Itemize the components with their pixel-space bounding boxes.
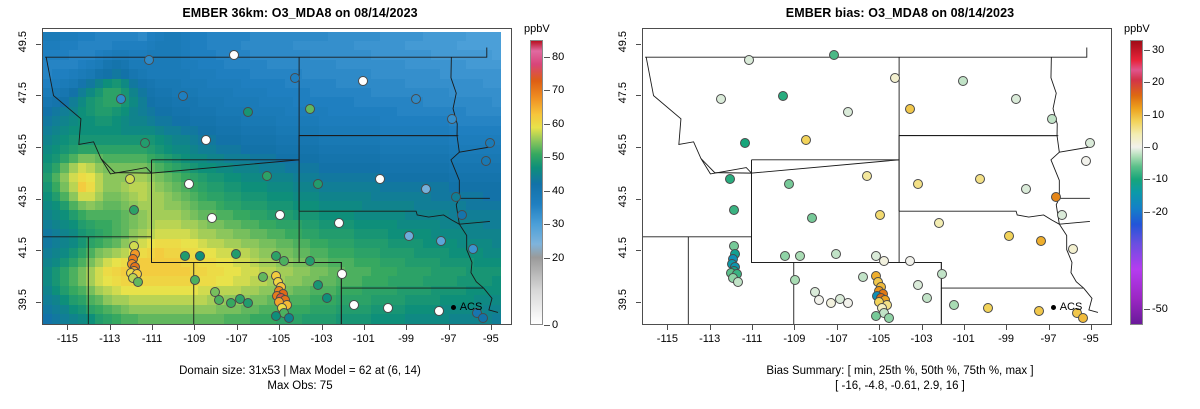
station-marker bbox=[1047, 114, 1057, 124]
y-tick-label: 43.5 bbox=[17, 186, 29, 208]
x-tick bbox=[491, 325, 492, 330]
station-marker bbox=[229, 50, 239, 60]
caption-bias-header: Bias Summary: [ min, 25th %, 50th %, 75t… bbox=[600, 365, 1200, 377]
y-tick bbox=[636, 147, 641, 148]
station-marker bbox=[829, 50, 839, 60]
colorbar-tick bbox=[1144, 309, 1150, 310]
y-tick bbox=[36, 95, 41, 96]
x-tick-label: -111 bbox=[142, 333, 162, 345]
colorbar-tick-label: 70 bbox=[552, 84, 564, 96]
y-tick bbox=[636, 95, 641, 96]
station-marker bbox=[1068, 244, 1078, 254]
y-tick-label: 41.5 bbox=[17, 237, 29, 259]
y-tick-label: 47.5 bbox=[17, 82, 29, 104]
station-marker bbox=[383, 303, 393, 313]
station-marker bbox=[140, 138, 150, 148]
x-tick-label: -95 bbox=[1083, 333, 1099, 345]
figure-root: EMBER 36km: O3_MDA8 on 08/14/2023 ACS -1… bbox=[0, 0, 1200, 409]
x-tick-label: -105 bbox=[868, 333, 890, 345]
colorbar-tick bbox=[1144, 212, 1150, 213]
station-marker bbox=[337, 269, 347, 279]
station-marker bbox=[843, 107, 853, 117]
station-marker bbox=[790, 275, 800, 285]
colorbar-gradient-right bbox=[1130, 40, 1143, 325]
colorbar-tick bbox=[544, 57, 550, 58]
x-tick-label: -115 bbox=[657, 333, 678, 345]
y-tick-label: 43.5 bbox=[617, 186, 629, 208]
y-tick-label: 49.5 bbox=[617, 31, 629, 53]
caption-domain-size: Domain size: 31x53 | Max Model = 62 at (… bbox=[0, 365, 600, 377]
colorbar-tick-label: 10 bbox=[1152, 109, 1164, 121]
station-marker bbox=[807, 213, 817, 223]
colorbar-tick bbox=[544, 258, 550, 259]
station-marker bbox=[1085, 138, 1095, 148]
station-marker bbox=[1081, 156, 1091, 166]
station-marker bbox=[375, 174, 385, 184]
colorbar-tick bbox=[544, 224, 550, 225]
x-tick-label: -115 bbox=[57, 333, 78, 345]
station-marker bbox=[434, 306, 444, 316]
y-tick-label: 41.5 bbox=[617, 237, 629, 259]
station-marker bbox=[144, 55, 154, 65]
x-tick-label: -101 bbox=[353, 333, 375, 345]
x-tick-label: -95 bbox=[483, 333, 499, 345]
station-marker bbox=[485, 138, 495, 148]
colorbar-tick bbox=[544, 157, 550, 158]
x-tick bbox=[279, 325, 280, 330]
station-marker bbox=[305, 104, 315, 114]
page-title-right: EMBER bias: O3_MDA8 on 08/14/2023 bbox=[600, 6, 1200, 20]
x-tick-label: -109 bbox=[183, 333, 205, 345]
x-tick-label: -101 bbox=[953, 333, 975, 345]
station-marker bbox=[1004, 231, 1014, 241]
y-tick-label: 45.5 bbox=[17, 134, 29, 156]
station-marker bbox=[1034, 306, 1044, 316]
colorbar-tick bbox=[544, 124, 550, 125]
x-tick bbox=[1006, 325, 1007, 330]
station-marker bbox=[831, 249, 841, 259]
x-tick bbox=[667, 325, 668, 330]
colorbar-gradient-left bbox=[530, 40, 543, 325]
colorbar-tick-label: 20 bbox=[1152, 76, 1164, 88]
x-tick bbox=[837, 325, 838, 330]
colorbar-tick bbox=[1144, 50, 1150, 51]
y-tick-label: 45.5 bbox=[617, 134, 629, 156]
station-marker bbox=[207, 213, 217, 223]
y-tick-label: 39.5 bbox=[617, 289, 629, 311]
colorbar-tick-label: -20 bbox=[1152, 206, 1168, 218]
colorbar-tick bbox=[544, 191, 550, 192]
station-marker bbox=[1011, 94, 1021, 104]
y-tick bbox=[36, 199, 41, 200]
colorbar-tick bbox=[1144, 179, 1150, 180]
station-marker bbox=[744, 55, 754, 65]
station-marker bbox=[884, 313, 894, 323]
x-tick-label: -109 bbox=[783, 333, 805, 345]
station-marker bbox=[795, 251, 805, 261]
x-tick-label: -97 bbox=[441, 333, 457, 345]
x-tick bbox=[322, 325, 323, 330]
x-tick-label: -105 bbox=[268, 333, 290, 345]
y-tick bbox=[636, 302, 641, 303]
colorbar-tick bbox=[544, 90, 550, 91]
station-marker bbox=[983, 303, 993, 313]
station-marker bbox=[975, 174, 985, 184]
x-tick-label: -111 bbox=[742, 333, 762, 345]
y-tick-label: 39.5 bbox=[17, 289, 29, 311]
x-tick bbox=[1091, 325, 1092, 330]
y-tick bbox=[636, 250, 641, 251]
city-label-right: ACS bbox=[1060, 301, 1083, 313]
colorbar-tick-label: 20 bbox=[552, 252, 564, 264]
colorbar-tick bbox=[544, 325, 550, 326]
x-tick bbox=[794, 325, 795, 330]
station-marker bbox=[716, 94, 726, 104]
city-label-left: ACS bbox=[460, 301, 483, 313]
colorbar-title-right: ppbV bbox=[1124, 23, 1150, 35]
x-tick-label: -103 bbox=[910, 333, 932, 345]
station-marker bbox=[322, 293, 332, 303]
x-tick bbox=[922, 325, 923, 330]
station-marker bbox=[1036, 236, 1046, 246]
colorbar-title-left: ppbV bbox=[524, 23, 550, 35]
station-marker bbox=[913, 280, 923, 290]
station-marker bbox=[190, 275, 200, 285]
y-tick-label: 49.5 bbox=[17, 31, 29, 53]
colorbar-tick-label: 0 bbox=[1152, 141, 1158, 153]
station-marker bbox=[481, 156, 491, 166]
colorbar-tick-label: -50 bbox=[1152, 303, 1168, 315]
station-marker bbox=[451, 192, 461, 202]
x-tick-label: -97 bbox=[1041, 333, 1057, 345]
colorbar-tick-label: 60 bbox=[552, 118, 564, 130]
y-tick bbox=[636, 199, 641, 200]
x-tick bbox=[194, 325, 195, 330]
y-tick bbox=[36, 147, 41, 148]
station-marker bbox=[922, 293, 932, 303]
x-tick-label: -107 bbox=[826, 333, 848, 345]
panel-model: EMBER 36km: O3_MDA8 on 08/14/2023 ACS -1… bbox=[0, 0, 600, 409]
x-tick-label: -99 bbox=[398, 333, 414, 345]
y-tick bbox=[36, 250, 41, 251]
x-tick bbox=[364, 325, 365, 330]
x-tick-label: -107 bbox=[226, 333, 248, 345]
map-plot-model: ACS bbox=[42, 28, 512, 325]
station-marker bbox=[729, 205, 739, 215]
station-marker bbox=[129, 205, 139, 215]
x-tick bbox=[879, 325, 880, 330]
page-title-left: EMBER 36km: O3_MDA8 on 08/14/2023 bbox=[0, 6, 600, 20]
x-tick-label: -113 bbox=[699, 333, 720, 345]
y-tick-label: 47.5 bbox=[617, 82, 629, 104]
colorbar-tick-label: 30 bbox=[1152, 44, 1164, 56]
colorbar-bias: ppbV -50-20-100102030 bbox=[1130, 0, 1200, 409]
station-marker bbox=[411, 94, 421, 104]
station-marker bbox=[404, 231, 414, 241]
caption-bias-values: [ -16, -4.8, -0.61, 2.9, 16 ] bbox=[600, 380, 1200, 392]
station-marker bbox=[178, 91, 188, 101]
station-marker bbox=[271, 311, 281, 321]
map-plot-bias: ACS bbox=[642, 28, 1112, 325]
x-tick bbox=[110, 325, 111, 330]
station-marker bbox=[725, 174, 735, 184]
colorbar-tick-label: -10 bbox=[1152, 173, 1168, 185]
y-tick bbox=[36, 302, 41, 303]
station-marker bbox=[243, 107, 253, 117]
station-marker bbox=[814, 295, 824, 305]
station-marker bbox=[875, 210, 885, 220]
station-marker bbox=[313, 280, 323, 290]
x-tick bbox=[449, 325, 450, 330]
station-marker bbox=[937, 269, 947, 279]
panel-bias: EMBER bias: O3_MDA8 on 08/14/2023 ACS -1… bbox=[600, 0, 1200, 409]
x-tick bbox=[752, 325, 753, 330]
x-tick-label: -103 bbox=[310, 333, 332, 345]
station-marker bbox=[958, 76, 968, 86]
x-tick bbox=[710, 325, 711, 330]
station-marker bbox=[1051, 192, 1061, 202]
station-marker bbox=[275, 210, 285, 220]
colorbar-tick bbox=[1144, 147, 1150, 148]
colorbar-tick-label: 80 bbox=[552, 51, 564, 63]
colorbar-tick-label: 30 bbox=[552, 218, 564, 230]
y-tick bbox=[36, 44, 41, 45]
y-tick bbox=[636, 44, 641, 45]
station-marker bbox=[231, 249, 241, 259]
station-marker bbox=[195, 251, 205, 261]
station-marker bbox=[436, 236, 446, 246]
colorbar-tick-label: 0 bbox=[552, 319, 558, 331]
station-marker bbox=[290, 73, 300, 83]
station-marker bbox=[116, 94, 126, 104]
x-tick bbox=[1049, 325, 1050, 330]
x-tick bbox=[152, 325, 153, 330]
x-tick bbox=[237, 325, 238, 330]
station-marker bbox=[740, 138, 750, 148]
caption-max-obs: Max Obs: 75 bbox=[0, 380, 600, 392]
colorbar-tick bbox=[1144, 115, 1150, 116]
x-tick bbox=[67, 325, 68, 330]
station-marker bbox=[358, 76, 368, 86]
x-tick-label: -113 bbox=[99, 333, 120, 345]
x-tick bbox=[406, 325, 407, 330]
station-marker bbox=[284, 313, 294, 323]
station-marker bbox=[778, 91, 788, 101]
colorbar-tick bbox=[1144, 82, 1150, 83]
station-marker bbox=[871, 311, 881, 321]
x-tick-label: -99 bbox=[998, 333, 1014, 345]
x-tick bbox=[964, 325, 965, 330]
station-marker bbox=[890, 73, 900, 83]
station-marker bbox=[905, 104, 915, 114]
colorbar-tick-label: 40 bbox=[552, 185, 564, 197]
station-marker bbox=[468, 244, 478, 254]
station-marker bbox=[125, 174, 135, 184]
colorbar-tick-label: 50 bbox=[552, 151, 564, 163]
station-marker bbox=[214, 295, 224, 305]
station-marker bbox=[447, 114, 457, 124]
